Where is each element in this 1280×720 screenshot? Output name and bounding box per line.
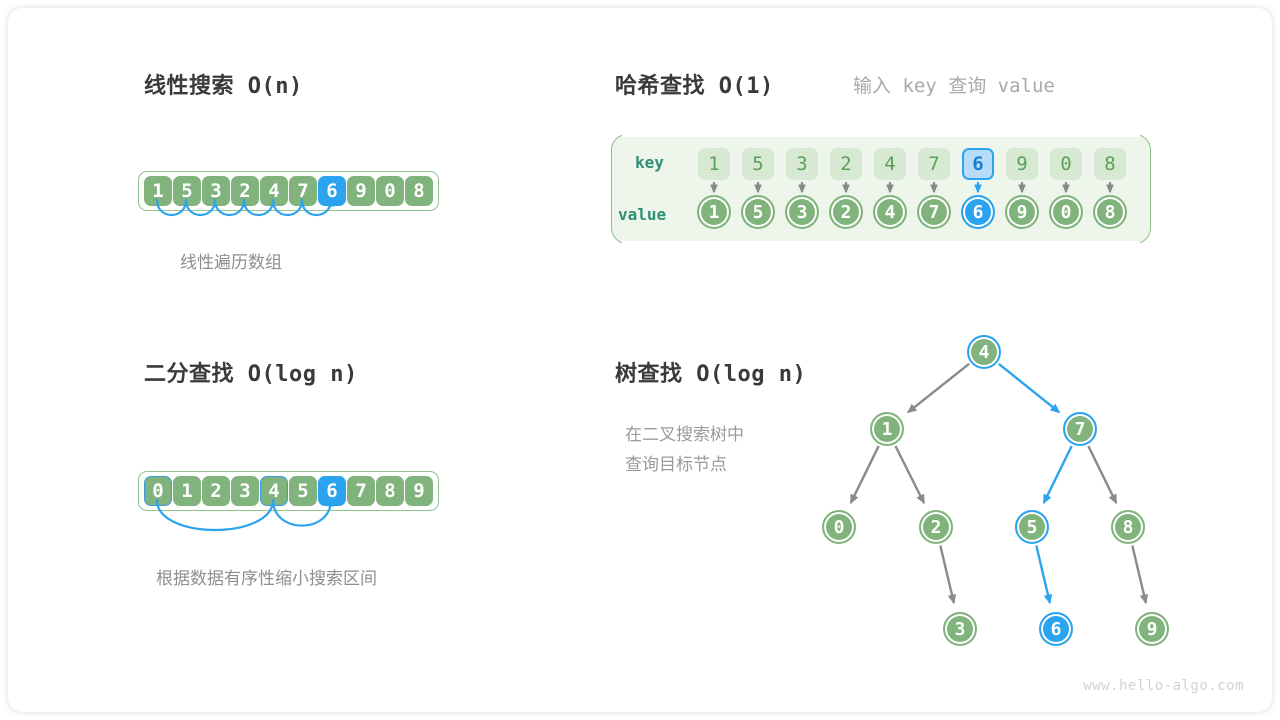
tree-edges [8,8,1272,712]
tree-node: 7 [1063,412,1097,446]
tree-node: 4 [967,335,1001,369]
tree-node: 3 [943,612,977,646]
diagram-card: 线性搜索 O(n) 1532476908 线性遍历数组 哈希查找 O(1) 输入… [8,8,1272,712]
tree-node: 0 [822,510,856,544]
tree-node: 9 [1135,612,1169,646]
tree-node: 1 [870,412,904,446]
tree-node: 2 [919,510,953,544]
tree-node: 6 [1039,612,1073,646]
tree-node: 8 [1111,510,1145,544]
tree-node: 5 [1015,510,1049,544]
watermark: www.hello-algo.com [1083,678,1244,694]
